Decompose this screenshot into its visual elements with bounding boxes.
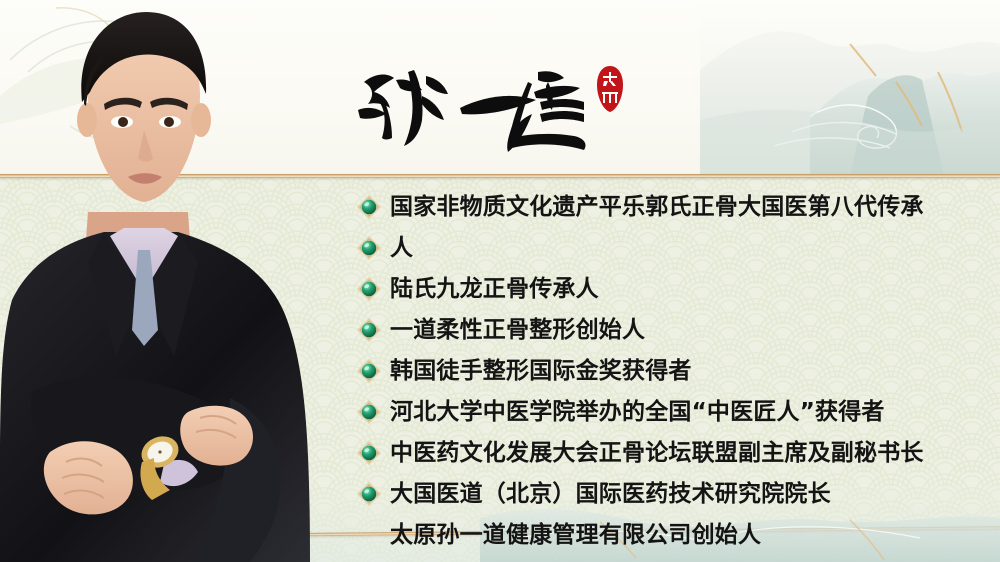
title-block xyxy=(352,52,652,160)
jade-gem-bullet-icon xyxy=(356,440,382,466)
list-item: 韩国徒手整形国际金奖获得者 xyxy=(356,354,956,395)
credential-text: 人 xyxy=(390,231,413,265)
list-item: 一道柔性正骨整形创始人 xyxy=(356,313,956,354)
credential-text: 韩国徒手整形国际金奖获得者 xyxy=(390,354,692,388)
credential-text: 陆氏九龙正骨传承人 xyxy=(390,272,599,306)
jade-gem-bullet-icon xyxy=(356,235,382,261)
credential-text: 大国医道（北京）国际医药技术研究院院长 xyxy=(390,477,831,511)
list-item: 河北大学中医学院举办的全国“中医匠人”获得者 xyxy=(356,395,956,436)
list-item: 大国医道（北京）国际医药技术研究院院长 xyxy=(356,477,956,518)
jade-gem-bullet-icon xyxy=(356,194,382,220)
jade-gem-bullet-icon xyxy=(356,276,382,302)
brush-title-calligraphy xyxy=(352,52,592,156)
credential-text: 河北大学中医学院举办的全国“中医匠人”获得者 xyxy=(390,395,885,429)
list-item: 人 xyxy=(356,231,956,272)
jade-gem-bullet-icon xyxy=(356,317,382,343)
list-item: 太原孙一道健康管理有限公司创始人 xyxy=(356,518,956,559)
jade-gem-bullet-icon xyxy=(356,399,382,425)
credential-text: 一道柔性正骨整形创始人 xyxy=(390,313,645,347)
credential-text: 国家非物质文化遗产平乐郭氏正骨大国医第八代传承 xyxy=(390,190,924,224)
gold-divider-top xyxy=(0,174,1000,178)
red-seal-stamp xyxy=(595,65,625,113)
slide-canvas: 国家非物质文化遗产平乐郭氏正骨大国医第八代传承 人 xyxy=(0,0,1000,562)
credential-text: 太原孙一道健康管理有限公司创始人 xyxy=(390,518,761,552)
list-item: 中医药文化发展大会正骨论坛联盟副主席及副秘书长 xyxy=(356,436,956,477)
list-item: 陆氏九龙正骨传承人 xyxy=(356,272,956,313)
jade-gem-bullet-icon xyxy=(356,358,382,384)
jade-gem-bullet-icon xyxy=(356,481,382,507)
credential-text: 中医药文化发展大会正骨论坛联盟副主席及副秘书长 xyxy=(390,436,924,470)
list-item: 国家非物质文化遗产平乐郭氏正骨大国医第八代传承 xyxy=(356,190,956,231)
credentials-list: 国家非物质文化遗产平乐郭氏正骨大国医第八代传承 人 xyxy=(356,190,956,559)
